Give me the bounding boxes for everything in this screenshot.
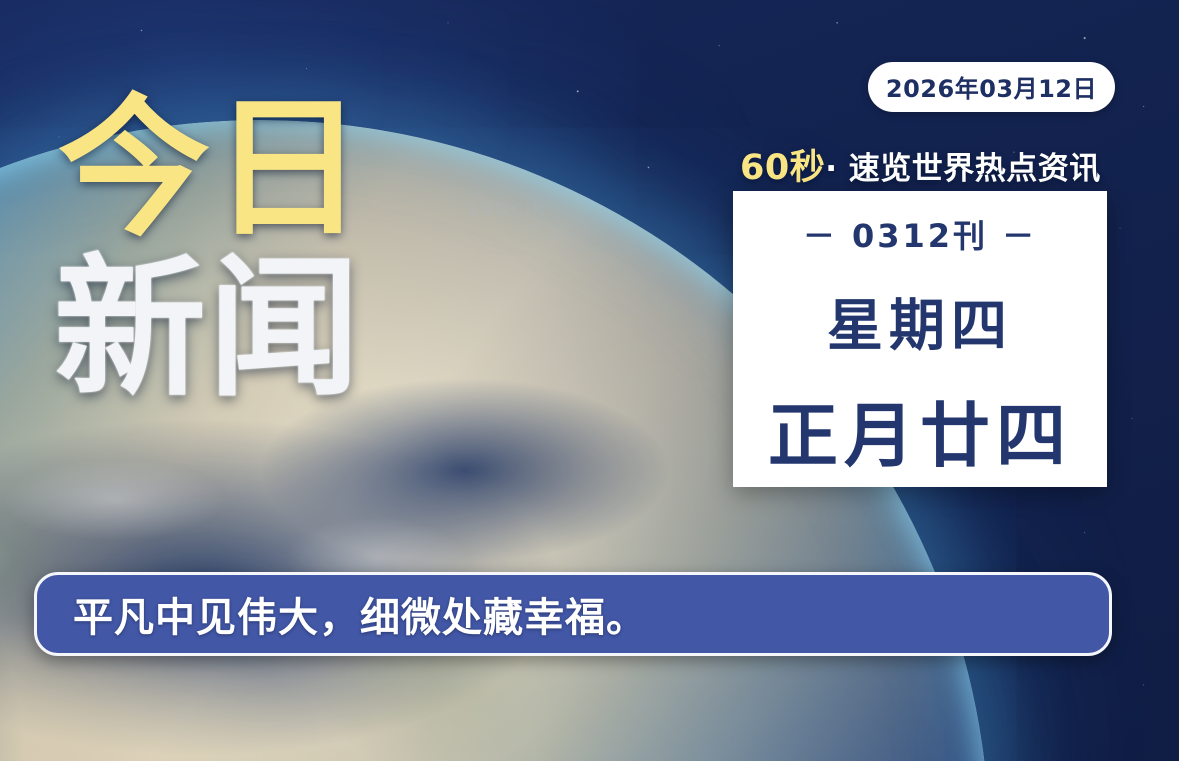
date-badge: 2026年03月12日 [868,62,1115,112]
title-line-news: 新闻 [54,256,366,402]
tagline-description: · 速览世界热点资讯 [825,151,1101,187]
daily-quote-text: 平凡中见伟大，细微处藏幸福。 [73,585,647,643]
tagline-seconds-label: 60秒 [740,148,825,188]
tagline: 60秒· 速览世界热点资讯 [740,139,1101,190]
daily-quote-bar: 平凡中见伟大，细微处藏幸福。 [34,572,1112,656]
poster-canvas: sabcik 今日 新闻 2026年03月12日 60秒· 速览世界热点资讯 －… [0,0,1179,761]
page-title: 今日 新闻 [58,96,366,402]
title-line-today: 今日 [58,96,366,242]
issue-number-label: － 0312刊 － [803,211,1037,257]
weekday-label: 星期四 [827,281,1013,362]
lunar-date-label: 正月廿四 [768,380,1072,481]
date-info-card: － 0312刊 － 星期四 正月廿四 [733,191,1107,487]
